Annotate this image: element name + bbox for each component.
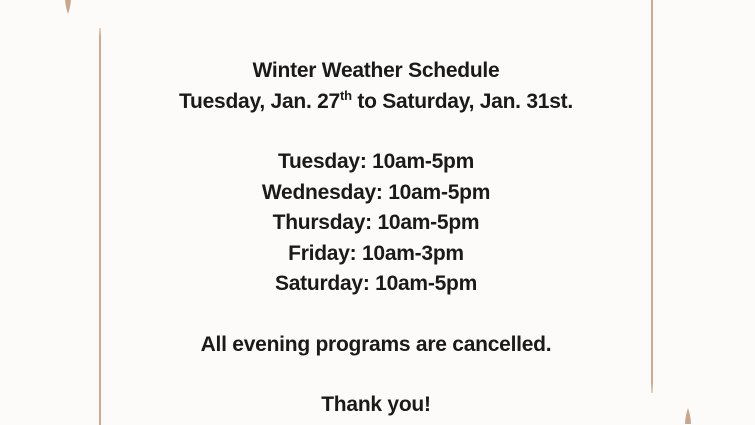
announcement-poster: Winter Weather Schedule Tuesday, Jan. 27…	[0, 0, 755, 425]
date-range-ordinal: th	[340, 88, 352, 103]
list-item: Saturday: 10am-5pm	[275, 269, 477, 300]
list-item: Wednesday: 10am-5pm	[262, 178, 490, 209]
cancellation-notice: All evening programs are cancelled.	[201, 330, 552, 361]
list-item: Thursday: 10am-5pm	[273, 208, 480, 239]
petal-flourish-icon	[61, 0, 75, 14]
list-item: Friday: 10am-3pm	[288, 239, 464, 270]
date-range-prefix: Tuesday, Jan. 27	[179, 90, 340, 113]
page-title: Winter Weather Schedule	[253, 56, 500, 87]
date-range-suffix: to Saturday, Jan. 31st.	[352, 90, 573, 113]
date-range: Tuesday, Jan. 27th to Saturday, Jan. 31s…	[179, 87, 573, 118]
list-item: Tuesday: 10am-5pm	[278, 147, 474, 178]
poster-content: Winter Weather Schedule Tuesday, Jan. 27…	[101, 0, 651, 425]
schedule-list: Tuesday: 10am-5pm Wednesday: 10am-5pm Th…	[262, 147, 490, 300]
heading-block: Winter Weather Schedule Tuesday, Jan. 27…	[179, 56, 573, 117]
closing-message: Thank you!	[321, 390, 431, 421]
petal-flourish-icon	[681, 408, 695, 424]
right-border-rule	[651, 0, 653, 393]
